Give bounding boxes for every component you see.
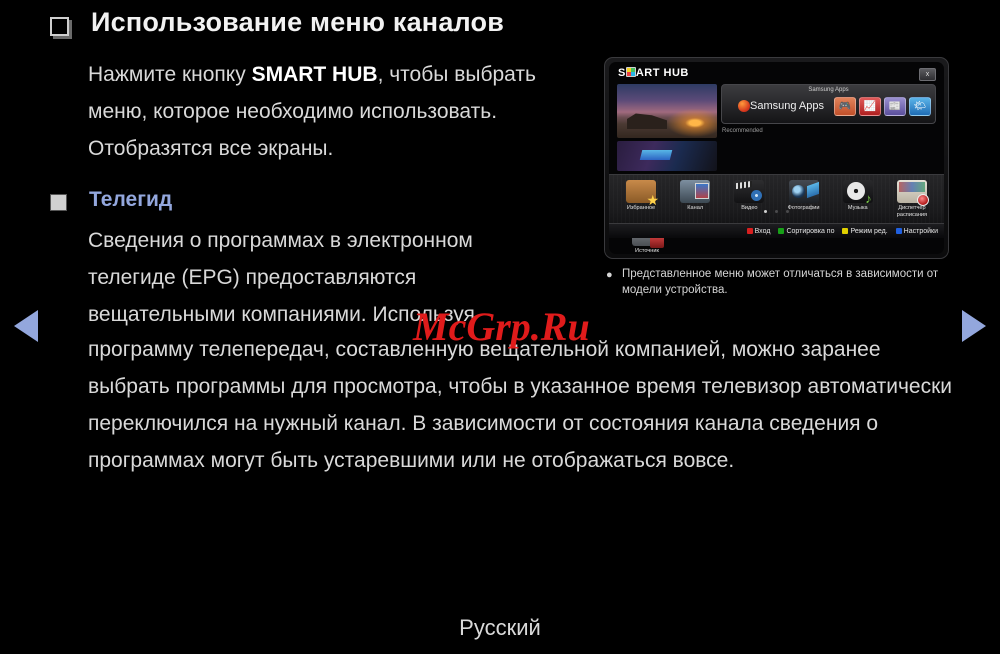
color-key-sort[interactable]: Сортировка по [778,228,834,235]
paragraph-epg-part1: Сведения о программах в электронном теле… [88,222,558,333]
tv-screen: SART HUB x Samsung Apps Samsung Apps 🎮 📈… [609,62,944,254]
games-app-tile[interactable]: 🎮 [834,97,856,116]
footer-language: Русский [0,615,1000,641]
news-app-tile[interactable]: 📰 [884,97,906,116]
samsung-apps-brand-label: Samsung Apps [750,100,824,112]
samsung-apps-panel[interactable]: Samsung Apps Samsung Apps 🎮 📈 📰 🌤 [721,84,936,124]
recommended-label: Recommended [722,128,763,134]
pager-dots[interactable] [609,200,944,218]
solid-square-bullet-icon [50,194,67,211]
note-text: Представленное меню может отличаться в з… [622,266,951,298]
subsection-title: Телегид [89,188,172,211]
hollow-square-bullet-icon [50,17,69,36]
color-key-enter[interactable]: Вход [747,228,771,235]
color-key-bar: Вход Сортировка по Режим ред. Настройки [609,223,944,238]
secondary-thumbnail[interactable] [617,141,717,171]
color-key-label: Сортировка по [786,228,834,235]
tv-frame: SART HUB x Samsung Apps Samsung Apps 🎮 📈… [604,57,949,259]
app-tiles-row: 🎮 📈 📰 🌤 [834,97,931,116]
green-key-icon [778,228,784,234]
color-key-label: Настройки [904,228,938,235]
samsung-cube-icon [626,67,636,77]
pager-dot[interactable] [775,210,778,213]
page-title: Использование меню каналов [91,8,504,38]
prev-page-arrow[interactable] [14,310,38,342]
chart-app-tile[interactable]: 📈 [859,97,881,116]
smart-hub-logo-title: SART HUB [618,67,689,79]
color-key-label: Режим ред. [850,228,887,235]
hub-item-label: Источник [621,248,673,254]
paragraph-epg-part2: программу телепередач, составленную веща… [88,331,968,479]
samsung-apps-caption: Samsung Apps [722,87,935,93]
pager-dot[interactable] [764,210,767,213]
smart-hub-bold: SMART HUB [252,63,378,86]
yellow-key-icon [842,228,848,234]
section-heading-teleguide: Телегид [50,188,172,211]
shack-shape-icon [627,112,667,129]
paragraph-prefix: Нажмите кнопку [88,63,252,86]
close-icon[interactable]: x [919,68,936,81]
color-key-label: Вход [755,228,771,235]
smart-hub-screenshot-figure: SART HUB x Samsung Apps Samsung Apps 🎮 📈… [604,57,949,259]
red-key-icon [747,228,753,234]
color-key-edit-mode[interactable]: Режим ред. [842,228,887,235]
figure-note: ● Представленное меню может отличаться в… [606,266,951,298]
featured-thumbnail-sunset[interactable] [617,84,717,138]
blue-key-icon [896,228,902,234]
note-bullet-icon: ● [606,266,622,298]
weather-app-tile[interactable]: 🌤 [909,97,931,116]
hub-icon-stage: Избранное Канал Видео Фотографии [609,174,944,238]
paragraph-smart-hub: Нажмите кнопку SMART HUB, чтобы выбрать … [88,56,558,167]
samsung-apps-logo-icon [738,100,750,112]
section-heading-channel-menu: Использование меню каналов [50,8,504,38]
color-key-settings[interactable]: Настройки [896,228,938,235]
pager-dot[interactable] [786,210,789,213]
